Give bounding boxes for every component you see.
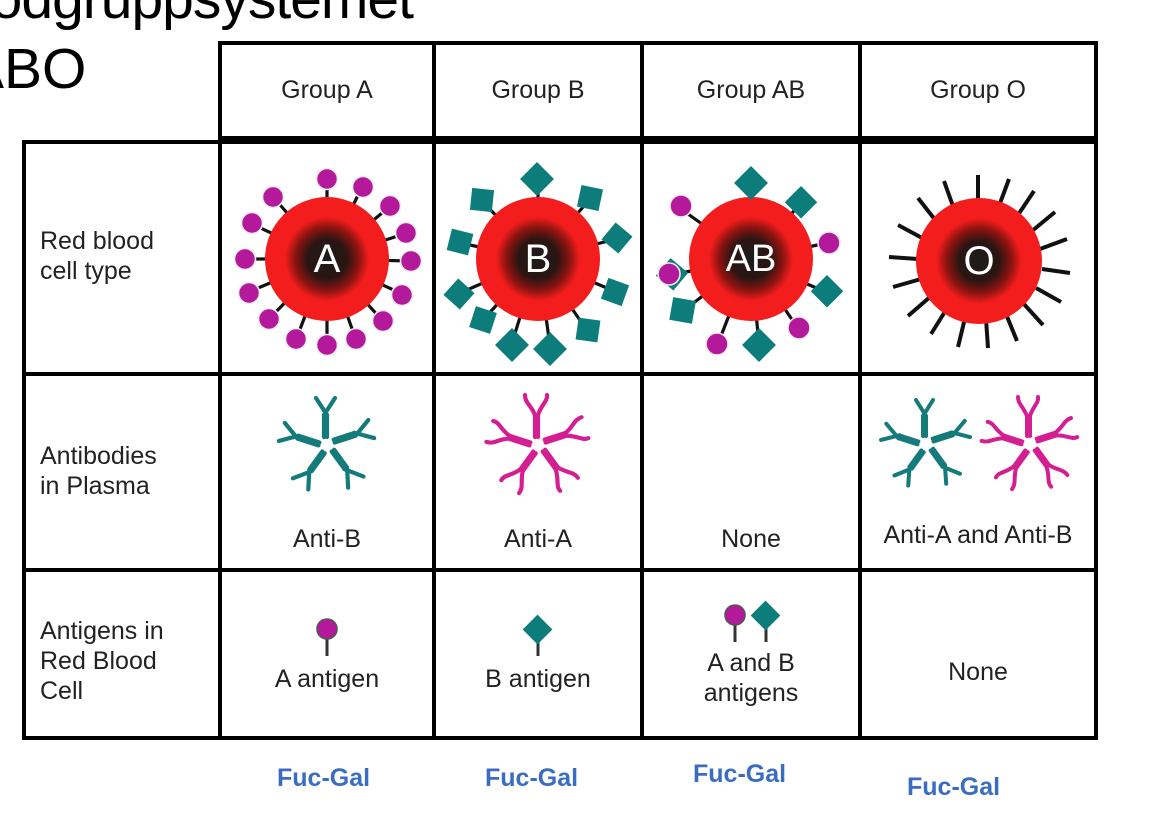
fuc-gal-label-group-a: Fuc-Gal — [277, 764, 370, 793]
red-blood-cell-b-icon: B — [438, 151, 638, 366]
a-and-b-antigens-icon — [709, 600, 793, 646]
rbc-letter-o: O — [963, 239, 994, 283]
table-body: Red blood cell type — [22, 140, 1098, 740]
antigen-caption-line: A and B — [707, 649, 795, 677]
cell-antigen-group-ab: A and B antigens — [644, 572, 858, 736]
cell-antigen-group-a: A antigen — [222, 572, 432, 736]
row-label-red-blood-cell-type: Red blood cell type — [40, 226, 154, 286]
fuc-gal-label-group-ab: Fuc-Gal — [693, 760, 786, 789]
row-label-line: Red Blood — [40, 647, 157, 675]
antigen-caption: B antigen — [485, 664, 591, 694]
row-label-line: in Plasma — [40, 472, 150, 500]
cell-rbc-group-a: A — [222, 144, 432, 372]
anti-a-and-anti-b-antibody-icon — [870, 390, 1086, 498]
page-title-cropped: Blodgruppsystemet — [0, 0, 413, 32]
cell-rbc-group-o: O — [862, 144, 1094, 372]
table-header-row: Group A Group B Group AB Group O — [218, 41, 1098, 140]
row-label-antigens-in-red-blood-cell: Antigens in Red Blood Cell — [40, 616, 164, 706]
column-header-group-ab: Group AB — [640, 41, 862, 140]
antibody-caption: Anti-B — [293, 524, 361, 554]
fuc-gal-label-group-o: Fuc-Gal — [907, 773, 1000, 802]
red-blood-cell-ab-icon: AB — [651, 151, 851, 366]
a-antigen-icon — [304, 614, 350, 660]
row-label-line: Antibodies — [40, 442, 157, 470]
cell-antigen-group-o: None — [862, 572, 1094, 736]
cell-antibody-group-o: Anti-A and Anti-B — [862, 376, 1094, 568]
anti-b-antibody-icon — [268, 390, 386, 500]
cell-antibody-group-ab: None — [644, 376, 858, 568]
row-label-line: cell type — [40, 257, 132, 285]
row-label-line: Cell — [40, 677, 83, 705]
cell-antibody-group-b: Anti-A — [436, 376, 640, 568]
blood-group-table: Group A Group B Group AB Group O Red blo… — [22, 41, 1098, 740]
fuc-gal-label-group-b: Fuc-Gal — [485, 764, 578, 793]
red-blood-cell-a-icon: A — [227, 151, 427, 366]
row-label-line: Red blood — [40, 227, 154, 255]
antibody-caption: None — [721, 524, 781, 554]
antigen-caption: A antigen — [275, 664, 379, 694]
antibody-caption: Anti-A and Anti-B — [883, 520, 1072, 550]
b-antigen-icon — [515, 614, 561, 660]
anti-a-antibody-icon — [479, 390, 597, 500]
cell-antibody-group-a: Anti-B — [222, 376, 432, 568]
antigen-caption-line: antigens — [704, 679, 799, 707]
rbc-letter-a: A — [314, 237, 341, 281]
cell-antigen-group-b: B antigen — [436, 572, 640, 736]
antibody-caption: Anti-A — [504, 524, 572, 554]
rbc-letter-b: B — [525, 237, 552, 281]
cell-rbc-group-ab: AB — [644, 144, 858, 372]
cell-rbc-group-b: B — [436, 144, 640, 372]
column-header-group-b: Group B — [432, 41, 644, 140]
column-header-group-a: Group A — [218, 41, 436, 140]
red-blood-cell-o-icon: O — [878, 151, 1078, 366]
antigen-caption: None — [948, 657, 1008, 687]
antigen-caption: A and B antigens — [704, 648, 799, 708]
column-header-group-o: Group O — [858, 41, 1098, 140]
row-label-antibodies-in-plasma: Antibodies in Plasma — [40, 441, 157, 501]
rbc-letter-ab: AB — [726, 238, 777, 280]
row-label-line: Antigens in — [40, 617, 164, 645]
